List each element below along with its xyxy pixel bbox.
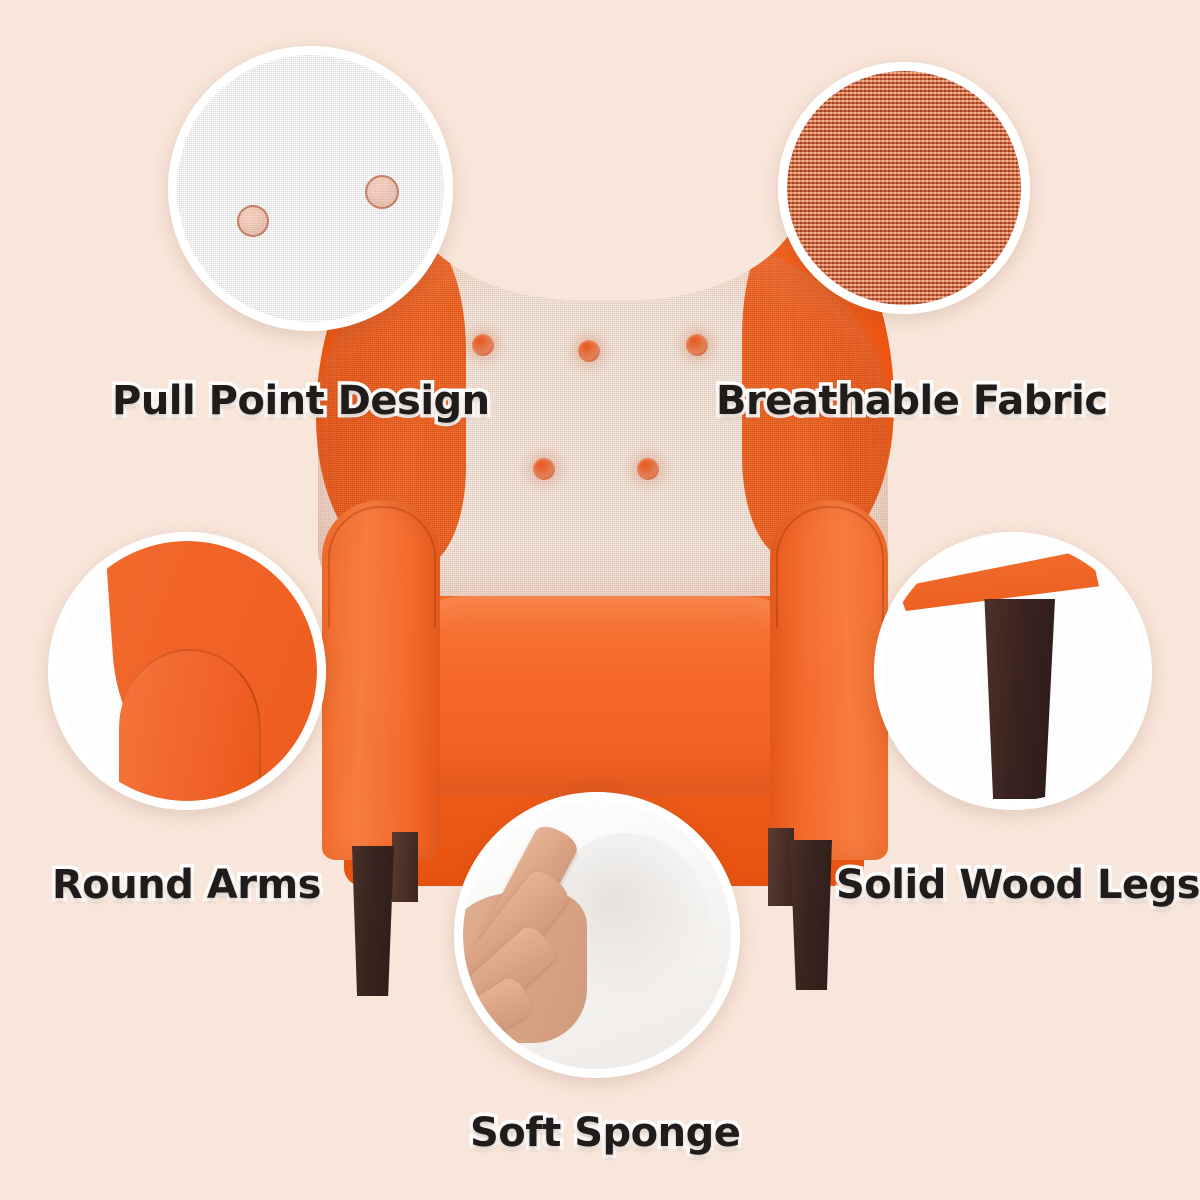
feature-label-solid-wood-legs: Solid Wood Legs xyxy=(836,862,1200,908)
callout-image-round-arm xyxy=(57,541,317,801)
callout-image-wood-leg xyxy=(883,541,1143,801)
feature-label-pull-point-design: Pull Point Design xyxy=(112,378,490,424)
callout-breathable-fabric xyxy=(778,62,1030,314)
callout-soft-sponge xyxy=(454,792,740,1078)
tufting-button xyxy=(578,340,600,362)
chair-back-left-leg xyxy=(392,832,418,902)
chair-front-left-leg xyxy=(352,846,394,996)
chair-seat-cushion xyxy=(404,596,804,796)
arm-roll-shape xyxy=(119,649,261,801)
infographic-canvas: Pull Point Design Breathable Fabric Roun… xyxy=(0,0,1200,1200)
tufting-dimple xyxy=(365,175,399,209)
chair-back-right-leg xyxy=(768,828,794,906)
tufting-button xyxy=(472,334,494,356)
arm-roll-piping xyxy=(776,506,884,628)
tufting-button xyxy=(637,458,659,480)
feature-label-soft-sponge: Soft Sponge xyxy=(470,1110,740,1156)
tufting-button xyxy=(686,334,708,356)
callout-image-pull-point xyxy=(177,55,444,322)
feature-label-round-arms: Round Arms xyxy=(52,862,321,908)
arm-roll-piping xyxy=(328,506,436,628)
callout-pull-point-design xyxy=(168,46,453,331)
tufting-dimple xyxy=(237,205,269,237)
chair-right-arm xyxy=(770,500,888,860)
chair-left-arm xyxy=(322,500,440,860)
callout-solid-wood-legs xyxy=(874,532,1152,810)
feature-label-breathable-fabric: Breathable Fabric xyxy=(716,378,1108,424)
callout-round-arms xyxy=(48,532,326,810)
callout-image-fabric-weave xyxy=(787,71,1021,305)
wood-leg-post xyxy=(983,599,1055,799)
chair-front-right-leg xyxy=(790,840,832,990)
callout-image-foam-hand xyxy=(463,801,731,1069)
tufting-button xyxy=(533,458,555,480)
